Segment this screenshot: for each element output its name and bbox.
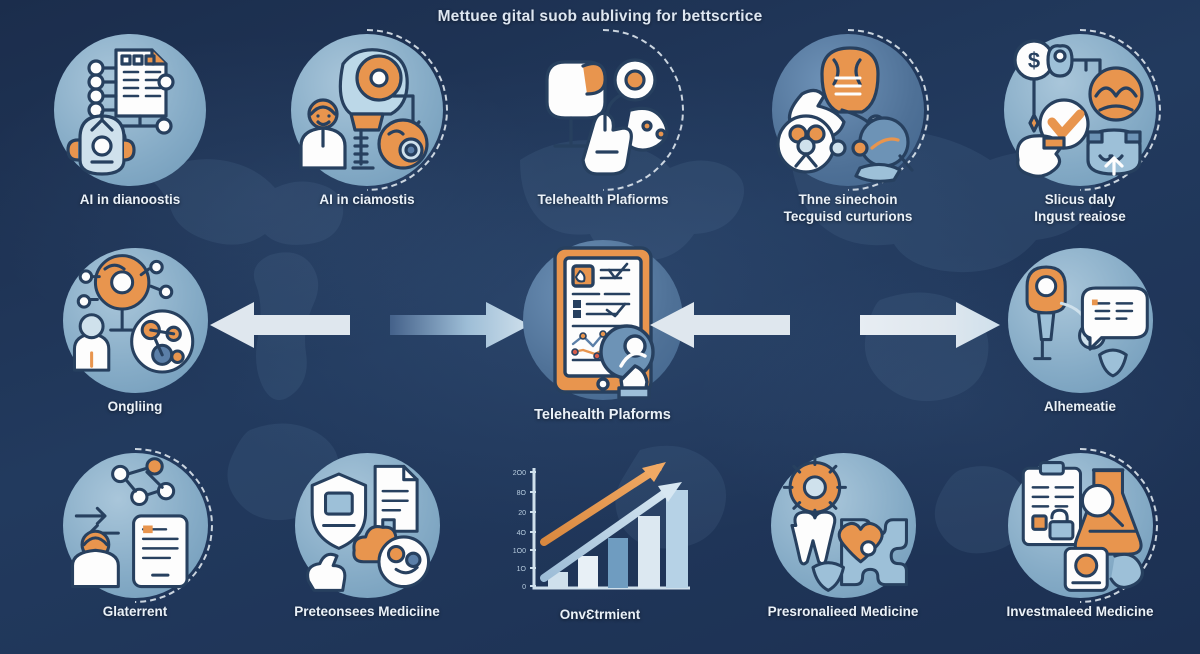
icon-circle	[291, 34, 443, 186]
node-telehealth-plafiorms-top[interactable]: Telehealth Plafiorms	[508, 34, 698, 209]
arrow-right-2	[860, 302, 1000, 348]
stethoscope-chat-icon	[1008, 248, 1153, 393]
ai-robot-document-icon	[54, 34, 206, 186]
node-label: Telehealth Plaforms	[505, 406, 700, 424]
icon-circle	[772, 34, 924, 186]
clipboard-lab-icon	[1008, 453, 1153, 598]
node-label: Presronalieed Medicine	[748, 604, 938, 621]
node-alhemeatie[interactable]: Alhemeatie	[985, 248, 1175, 416]
node-label: Alhemeatie	[985, 399, 1175, 416]
chart-y-tick-labels: 2O0 8O 20 4O 1O0 1O 0	[513, 470, 527, 591]
node-investmaleed-medicine[interactable]: Investmaleed Medicine	[985, 453, 1175, 621]
shield-cloud-hand-icon	[295, 453, 440, 598]
icon-circle	[63, 453, 208, 598]
node-slicus-daly[interactable]: $	[985, 34, 1175, 226]
node-ai-in-ciamostis[interactable]: AI in ciamostis	[272, 34, 462, 209]
dna-heart-gear-icon	[771, 453, 916, 598]
svg-text:2O0: 2O0	[513, 470, 526, 477]
node-label: Investmaleed Medicine	[985, 604, 1175, 621]
network-microscope-icon	[63, 248, 208, 393]
node-glaterrent[interactable]: Glaterrent	[40, 453, 230, 621]
icon-circle: $	[1004, 34, 1156, 186]
icon-circle	[1008, 453, 1153, 598]
node-label: Preteonsees Mediciine	[272, 604, 462, 621]
node-label: Glaterrent	[40, 604, 230, 621]
node-label: OnvƐtrmient	[500, 607, 700, 624]
icon-circle	[54, 34, 206, 186]
node-label: AI in dianoostis	[35, 192, 225, 209]
svg-text:1O0: 1O0	[513, 548, 526, 555]
growth-bar-chart-icon: 2O0 8O 20 4O 1O0 1O 0	[500, 450, 700, 600]
icon-circle	[295, 453, 440, 598]
svg-text:4O: 4O	[517, 530, 527, 537]
node-label: Thne sinechoin Tecguisd curturions	[748, 192, 948, 226]
people-network-mobile-icon	[63, 453, 208, 598]
page-title: Mettuee gital suob aubliving for bettscr…	[0, 8, 1200, 26]
node-ongliing[interactable]: Ongliing	[40, 248, 230, 416]
icon-circle	[63, 248, 208, 393]
dollar-check-icon: $	[1004, 34, 1156, 186]
node-preteonsees-mediciine[interactable]: Preteonsees Mediciine	[272, 453, 462, 621]
svg-text:$: $	[1028, 48, 1040, 73]
infographic-poster: Mettuee gital suob aubliving for bettscr…	[0, 0, 1200, 654]
icon-circle	[527, 34, 679, 186]
chart-area: 2O0 8O 20 4O 1O0 1O 0	[500, 450, 700, 600]
svg-text:1O: 1O	[517, 566, 527, 573]
svg-text:0: 0	[522, 584, 526, 591]
node-presronalieed-medicine[interactable]: Presronalieed Medicine	[748, 453, 938, 621]
node-label: Ongliing	[40, 399, 230, 416]
node-ai-in-dianoostis[interactable]: AI in dianoostis	[35, 34, 225, 209]
telehealth-device-icon	[527, 34, 679, 186]
chart-bars	[548, 490, 688, 588]
icon-circle	[771, 453, 916, 598]
svg-text:20: 20	[518, 510, 526, 517]
doctor-equipment-icon	[291, 34, 443, 186]
icon-circle	[1008, 248, 1153, 393]
svg-text:8O: 8O	[517, 490, 527, 497]
node-thne-sinechoin[interactable]: Thne sinechoin Tecguisd curturions	[748, 34, 948, 226]
hand-magnifier-icon	[772, 34, 924, 186]
node-label: Slicus daly Ingust reaiose	[985, 192, 1175, 226]
node-label: Telehealth Plafiorms	[508, 192, 698, 209]
arrow-left-2	[650, 302, 790, 348]
arrow-left-1	[210, 302, 350, 348]
node-growth-chart[interactable]: 2O0 8O 20 4O 1O0 1O 0	[500, 450, 700, 624]
node-label: AI in ciamostis	[272, 192, 462, 209]
